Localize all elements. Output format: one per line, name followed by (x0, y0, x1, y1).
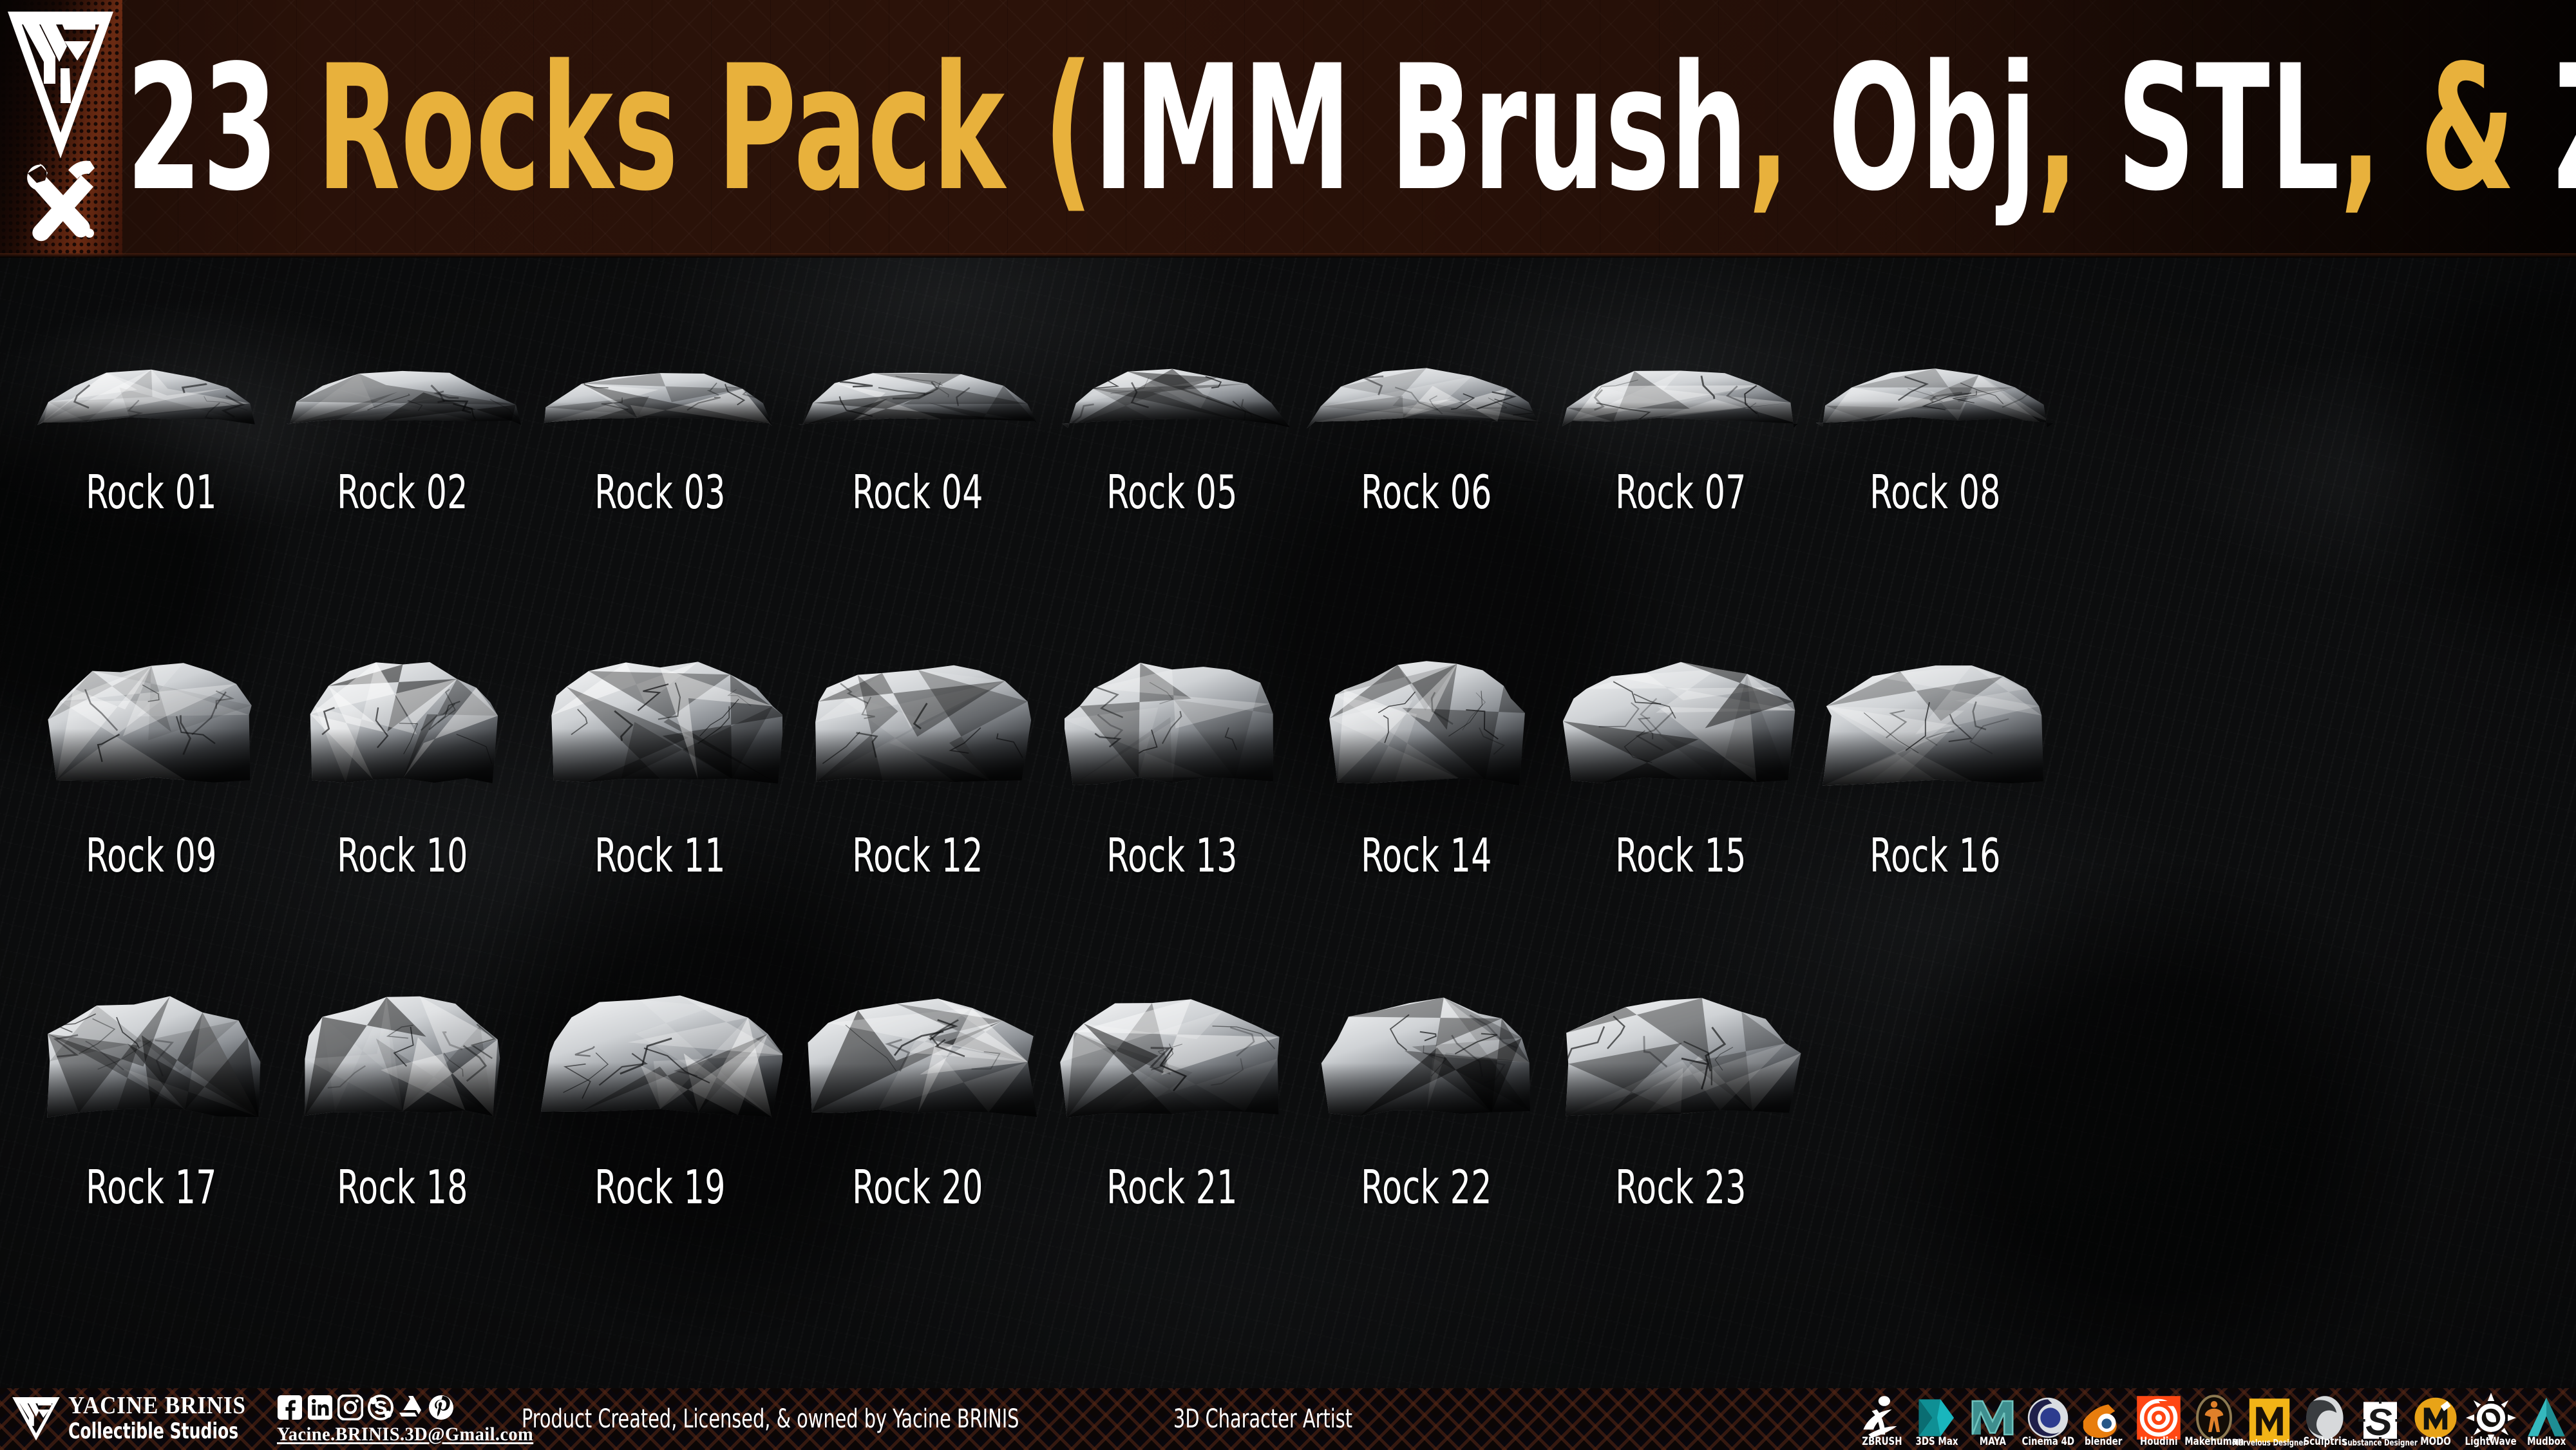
software-label: Sculptris (2303, 1436, 2346, 1447)
rock-row-2: Rock 09 Rock 10 Rock 11 (0, 657, 2576, 934)
brand-subtitle: Collectible Studios (68, 1420, 238, 1442)
rock-cell[interactable]: Rock 19 (535, 989, 786, 1253)
title-part-10: ZTL (2553, 28, 2576, 229)
rock-cell[interactable]: Rock 22 (1301, 989, 1552, 1253)
rock-cell[interactable]: Rock 03 (535, 361, 786, 567)
software-logo-modo: MODO (2409, 1391, 2463, 1450)
software-label: Mudbox (2527, 1436, 2566, 1447)
rock-cell[interactable]: Rock 18 (277, 989, 528, 1253)
rock-cell[interactable]: Rock 20 (792, 989, 1043, 1253)
header-banner: 23 Rocks Pack (IMM Brush, Obj, STL, & ZT… (0, 0, 2576, 258)
rock-cell[interactable]: Rock 16 (1810, 657, 2061, 921)
footer-bar: YACINE BRINIS Collectible Studios (0, 1388, 2576, 1450)
software-label: ZBRUSH (1862, 1436, 1902, 1447)
facebook-icon[interactable] (277, 1395, 303, 1420)
modo-icon (2410, 1399, 2461, 1436)
software-logo-zbrush: ZBRUSH (1855, 1391, 1909, 1450)
3ds-max-icon (1912, 1399, 1962, 1436)
rock-label: Rock 05 (1074, 469, 1270, 515)
rock-thumbnail (1810, 361, 2061, 438)
software-logo-substance-designer: Substance Designer (2353, 1391, 2407, 1450)
rock-label: Rock 08 (1837, 469, 2033, 515)
software-logo-lightwave: LightWave (2464, 1391, 2518, 1450)
skype-icon[interactable] (368, 1395, 393, 1420)
rock-thumbnail (277, 989, 528, 1124)
rock-cell[interactable]: Rock 17 (26, 989, 277, 1253)
title-part-3: IMM Brush (1094, 28, 1748, 229)
rock-label: Rock 18 (305, 1164, 500, 1210)
rock-cell[interactable]: Rock 15 (1555, 657, 1806, 921)
software-logo-blender: blender (2076, 1391, 2130, 1450)
header-bottom-edge (0, 253, 2576, 258)
rock-cell[interactable]: Rock 07 (1555, 361, 1806, 567)
rock-thumbnail (1046, 657, 1298, 792)
rock-thumbnail (26, 657, 277, 792)
rock-cell[interactable]: Rock 08 (1810, 361, 2061, 567)
houdini-icon (2134, 1399, 2184, 1436)
rock-thumbnail (1555, 361, 1806, 438)
credit-ownership: Product Created, Licensed, & owned by Ya… (522, 1404, 1019, 1434)
software-label: blender (2085, 1436, 2122, 1447)
sculptris-icon (2300, 1399, 2350, 1436)
rock-cell[interactable]: Rock 13 (1046, 657, 1298, 921)
rock-label: Rock 12 (820, 832, 1016, 879)
rock-row-3: Rock 17 Rock 18 Rock 19 (0, 989, 2576, 1266)
rock-label: Rock 07 (1583, 469, 1779, 515)
software-label: Cinema 4D (2022, 1436, 2074, 1447)
software-label: Substance Designer (2343, 1439, 2418, 1447)
rock-cell[interactable]: Rock 12 (792, 657, 1043, 921)
rock-label: Rock 17 (53, 1164, 249, 1210)
rock-label: Rock 15 (1583, 832, 1779, 879)
rock-thumbnail (1301, 989, 1552, 1124)
rock-label: Rock 09 (53, 832, 249, 879)
rock-cell[interactable]: Rock 05 (1046, 361, 1298, 567)
promo-sheet: 23 Rocks Pack (IMM Brush, Obj, STL, & ZT… (0, 0, 2576, 1450)
rock-label: Rock 14 (1329, 832, 1524, 879)
rock-thumbnail (535, 657, 786, 792)
rock-cell[interactable]: Rock 10 (277, 657, 528, 921)
rock-thumbnail (277, 361, 528, 438)
footer-brand: YACINE BRINIS Collectible Studios (10, 1392, 276, 1444)
software-logo-maya: MAYA (1965, 1391, 2020, 1450)
software-logo-row: ZBRUSH 3DS Max MAYA Cinema 4D blender Ho… (1855, 1388, 2573, 1450)
software-label: MODO (2420, 1436, 2450, 1447)
software-label: LightWave (2465, 1436, 2517, 1447)
rock-thumbnail (26, 361, 277, 438)
title-part-2: ( (1043, 28, 1094, 229)
cinema-4d-icon (2023, 1399, 2073, 1436)
rock-cell[interactable]: Rock 02 (277, 361, 528, 567)
rock-cell[interactable]: Rock 09 (26, 657, 277, 921)
rock-thumbnail (26, 989, 277, 1124)
software-logo-3ds-max: 3DS Max (1910, 1391, 1964, 1450)
instagram-icon[interactable] (337, 1395, 363, 1420)
rock-cell[interactable]: Rock 06 (1301, 361, 1552, 567)
pinterest-icon[interactable] (428, 1395, 454, 1420)
title-part-5: Obj (1828, 28, 2037, 229)
rock-cell[interactable]: Rock 23 (1555, 989, 1806, 1253)
rock-label: Rock 03 (562, 469, 758, 515)
software-label: MAYA (1979, 1436, 2005, 1447)
footer-brand-text: YACINE BRINIS Collectible Studios (68, 1393, 276, 1442)
title-part-6: , (2037, 28, 2117, 229)
brand-name: YACINE BRINIS (68, 1393, 259, 1418)
rock-label: Rock 01 (53, 469, 249, 515)
title-part-9: & (2420, 28, 2553, 229)
rock-label: Rock 19 (562, 1164, 758, 1210)
rock-label: Rock 22 (1329, 1164, 1524, 1210)
rock-cell[interactable]: Rock 14 (1301, 657, 1552, 921)
rock-thumbnail (792, 361, 1043, 438)
social-icon-row (277, 1393, 547, 1422)
rock-label: Rock 04 (820, 469, 1016, 515)
title-part-8: , (2340, 28, 2420, 229)
header-logo-plate (0, 0, 122, 258)
rock-cell[interactable]: Rock 21 (1046, 989, 1298, 1253)
title-part-7: STL (2117, 28, 2340, 229)
yacine-brinis-logo-icon (5, 6, 116, 251)
linkedin-icon[interactable] (307, 1395, 333, 1420)
rock-label: Rock 16 (1837, 832, 2033, 879)
rock-cell[interactable]: Rock 11 (535, 657, 786, 921)
marvelous-designer-icon (2244, 1402, 2295, 1439)
title-part-0: 23 (126, 28, 317, 229)
software-logo-houdini: Houdini (2132, 1391, 2186, 1450)
zbrush-icon (1857, 1399, 1907, 1436)
rock-thumbnail (1555, 657, 1806, 792)
rock-thumbnail (1046, 361, 1298, 438)
rock-label: Rock 21 (1074, 1164, 1270, 1210)
software-logo-cinema-4d: Cinema 4D (2021, 1391, 2075, 1450)
credit-role: 3D Character Artist (1173, 1404, 1352, 1434)
brand-logo-icon (10, 1392, 62, 1444)
rock-label: Rock 10 (305, 832, 500, 879)
page-title: 23 Rocks Pack (IMM Brush, Obj, STL, & ZT… (126, 0, 2576, 258)
artstation-icon[interactable] (398, 1395, 424, 1420)
rock-cell[interactable]: Rock 04 (792, 361, 1043, 567)
lightwave-icon (2466, 1399, 2516, 1436)
rock-thumbnail (792, 989, 1043, 1124)
rock-thumbnail (1301, 361, 1552, 438)
blender-icon (2078, 1399, 2128, 1436)
software-logo-mudbox: Mudbox (2519, 1391, 2573, 1450)
rock-label: Rock 11 (562, 832, 758, 879)
makehuman-icon (2189, 1399, 2239, 1436)
footer-credits: Product Created, Licensed, & owned by Ya… (522, 1388, 1397, 1450)
rock-thumbnail (1301, 657, 1552, 792)
rock-thumbnail (1555, 989, 1806, 1124)
rock-label: Rock 20 (820, 1164, 1016, 1210)
footer-social: Yacine.BRINIS.3D@Gmail.com (277, 1393, 547, 1445)
rock-thumbnail (277, 657, 528, 792)
rock-label: Rock 23 (1583, 1164, 1779, 1210)
rock-label: Rock 13 (1074, 832, 1270, 879)
rock-thumbnail (535, 989, 786, 1124)
software-logo-marvelous-designer: Marvelous Designer (2242, 1391, 2297, 1450)
contact-email[interactable]: Yacine.BRINIS.3D@Gmail.com (277, 1424, 533, 1445)
software-label: Houdini (2140, 1436, 2178, 1447)
software-label: 3DS Max (1916, 1436, 1958, 1447)
rock-thumbnail (792, 657, 1043, 792)
rock-thumbnail (535, 361, 786, 438)
title-part-1: Rocks Pack (317, 28, 1044, 229)
mudbox-icon (2521, 1399, 2571, 1436)
rock-thumbnail (1046, 989, 1298, 1124)
rock-thumbnail (1810, 657, 2061, 792)
rock-label: Rock 02 (305, 469, 500, 515)
maya-icon (1967, 1399, 2018, 1436)
rock-cell[interactable]: Rock 01 (26, 361, 277, 567)
substance-designer-icon (2355, 1402, 2405, 1439)
rock-label: Rock 06 (1329, 469, 1524, 515)
title-part-4: , (1748, 28, 1828, 229)
rock-row-1: Rock 01 Rock 02 Rock 03 (0, 361, 2576, 580)
rock-gallery: Rock 01 Rock 02 Rock 03 (0, 258, 2576, 1388)
software-label: Marvelous Designer (2232, 1439, 2307, 1447)
